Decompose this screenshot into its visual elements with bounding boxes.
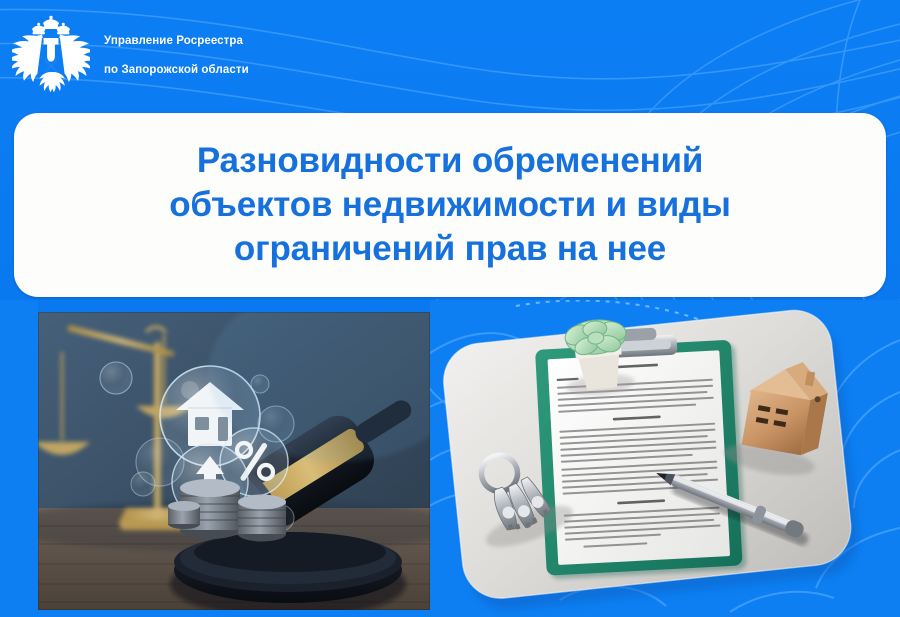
page-title-line2: объектов недвижимости и виды xyxy=(32,183,868,227)
photo-clipboard-contract-keys xyxy=(430,300,900,617)
brand-header: Управление Росреестра по Запорожской обл… xyxy=(0,0,900,112)
bottom-blue-strip xyxy=(0,610,438,617)
title-card: Разновидности обременений объектов недви… xyxy=(14,113,886,297)
page-title: Разновидности обременений объектов недви… xyxy=(14,139,886,271)
banner-canvas: Управление Росреестра по Запорожской обл… xyxy=(0,0,900,617)
double-headed-eagle-emblem-icon xyxy=(12,14,90,98)
page-title-line1: Разновидности обременений xyxy=(32,139,868,183)
left-blue-margin xyxy=(0,300,38,617)
organization-name: Управление Росреестра по Запорожской обл… xyxy=(104,20,249,93)
organization-name-line1: Управление Росреестра xyxy=(104,34,249,49)
page-title-line3: ограничений прав на нее xyxy=(32,227,868,271)
organization-name-line2: по Запорожской области xyxy=(104,63,249,78)
photo-scales-gavel-house xyxy=(38,312,430,610)
